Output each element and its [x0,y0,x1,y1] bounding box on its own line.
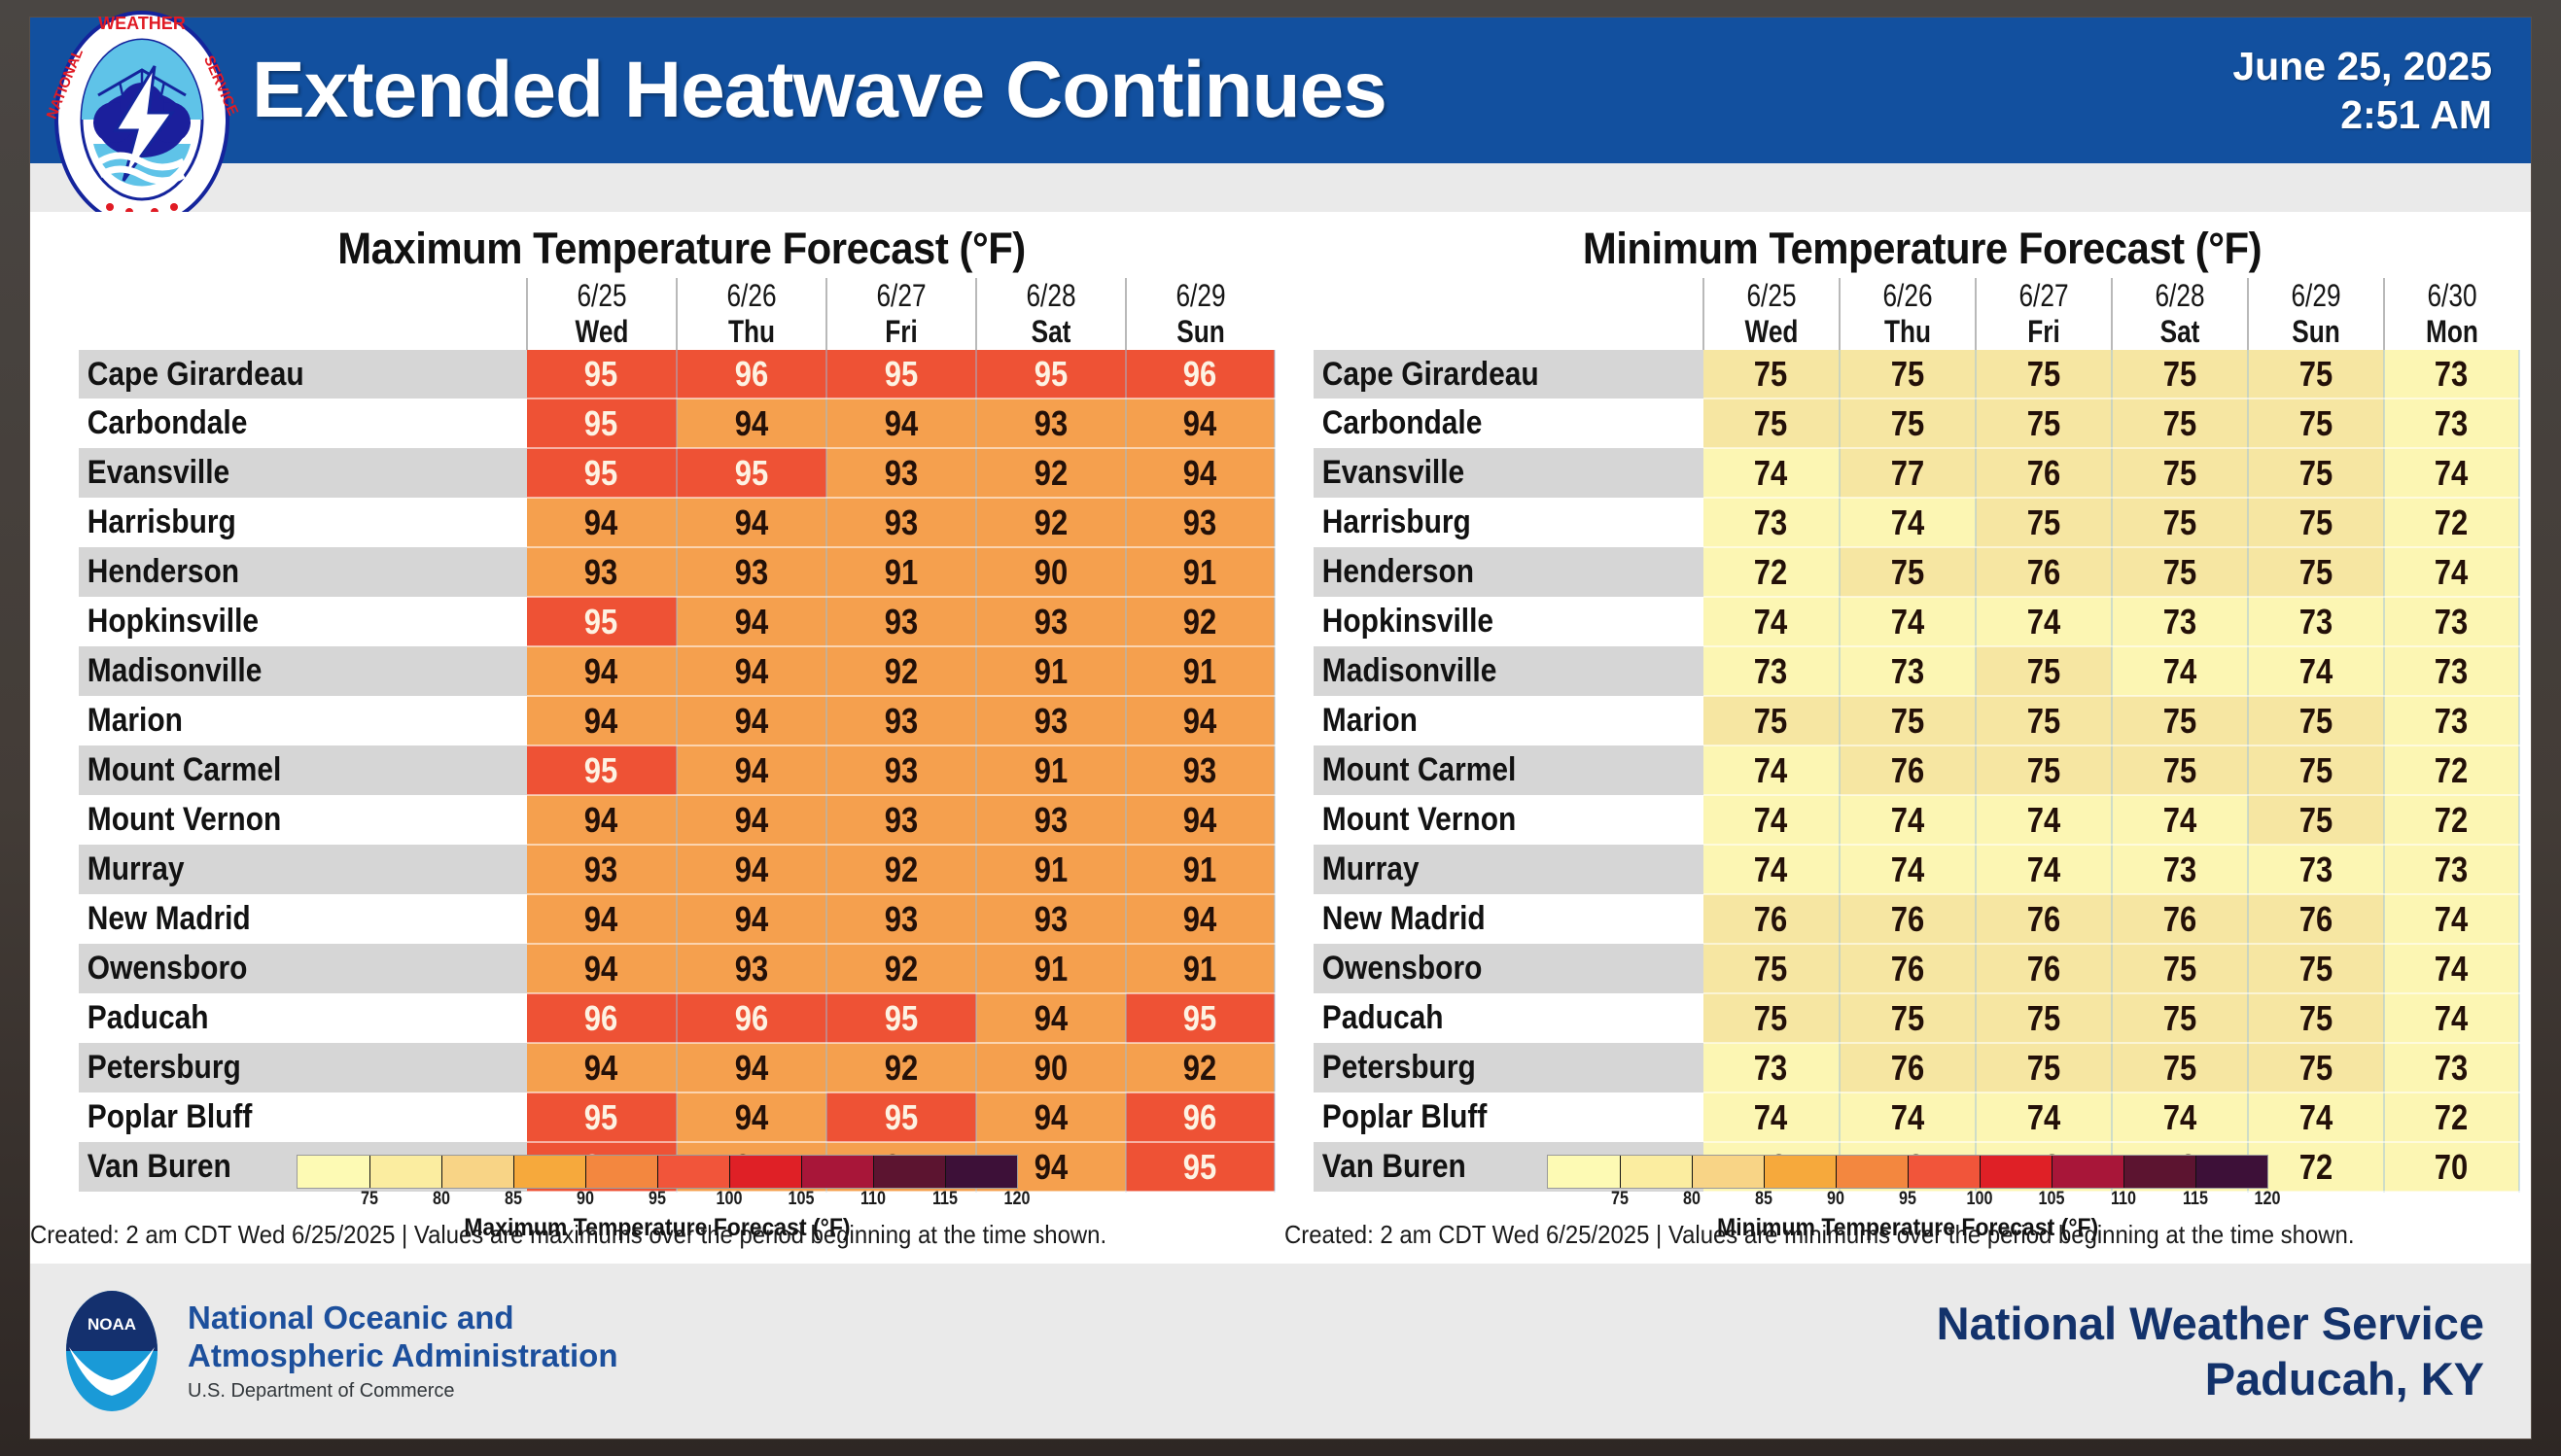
city-label: Carbondale [79,404,474,442]
city-label: Hopkinsville [1314,603,1657,641]
table-row: Evansville9595939294 [79,448,1275,498]
legend-tick-label: 110 [860,1189,886,1210]
temperature-cell: 72 [1703,547,1840,597]
table-row: Petersburg9494929092 [79,1043,1275,1092]
legend-tick [2195,1156,2196,1188]
temperature-cell: 72 [2384,498,2519,547]
temperature-cell: 74 [2112,646,2248,696]
temperature-cell: 72 [2384,1092,2519,1142]
legend-tick-label: 120 [2255,1189,2281,1210]
legend-tick [585,1156,586,1188]
svg-text:NOAA: NOAA [88,1315,136,1334]
temperature-cell: 77 [1840,448,1976,498]
temperature-cell: 75 [1976,399,2112,448]
temperature-cell: 75 [1840,399,1976,448]
temperature-cell: 93 [826,795,976,845]
temperature-cell: 75 [1703,993,1840,1043]
legend-tick-label: 100 [717,1189,743,1210]
temperature-cell: 94 [527,894,677,944]
column-header-day: Fri [1976,314,2112,350]
city-label: Poplar Bluff [1314,1098,1657,1136]
temperature-cell: 74 [2384,894,2519,944]
column-header-date: 6/29 [2248,278,2384,314]
svg-text:WEATHER: WEATHER [98,14,186,33]
header-bar: WEATHER NATIONAL SERVICE Extended Heatwa… [30,17,2531,163]
footer-bar: NOAA National Oceanic and Atmospheric Ad… [30,1264,2531,1439]
temperature-cell: 74 [1840,498,1976,547]
legend-tick-label: 90 [1827,1189,1844,1210]
temperature-cell: 93 [976,795,1126,845]
column-header-date: 6/26 [677,278,826,314]
table-row: Poplar Bluff9594959496 [79,1092,1275,1142]
table-row: Madisonville9494929191 [79,646,1275,696]
temperature-cell: 76 [1976,894,2112,944]
temperature-cell: 91 [1126,646,1275,696]
table-row: Petersburg737675757573 [1314,1043,2519,1092]
temperature-cell: 75 [2248,448,2384,498]
row-city-cell: Cape Girardeau [1314,350,1703,399]
table-row: Cape Girardeau757575757573 [1314,350,2519,399]
legend-tick [945,1156,946,1188]
temperature-cell: 75 [1703,696,1840,745]
city-label: Madisonville [79,652,474,690]
legend-tick-label: 75 [361,1189,378,1210]
temperature-cell: 93 [976,894,1126,944]
city-label: Petersburg [1314,1049,1657,1087]
legend-colorbar-min [1547,1155,2268,1189]
city-label: Madisonville [1314,652,1657,690]
temperature-cell: 74 [1976,795,2112,845]
graphic-frame: WEATHER NATIONAL SERVICE Extended Heatwa… [30,17,2531,1439]
temperature-cell: 96 [677,350,826,399]
row-city-cell: Madisonville [1314,646,1703,696]
noaa-name-line1: National Oceanic and [188,1300,618,1337]
city-label: Henderson [1314,553,1657,591]
header-spacer-cell [79,314,527,350]
table-header-days: WedThuFriSatSunMon [1314,314,2519,350]
legend-tick-label: 85 [505,1189,522,1210]
temperature-cell: 76 [1703,894,1840,944]
panel-minimum: Minimum Temperature Forecast (°F) 6/256/… [1284,212,2531,1264]
legend-tick [1692,1156,1693,1188]
temperature-cell: 76 [1840,1043,1976,1092]
temperature-cell: 74 [1703,745,1840,795]
temperature-cell: 91 [1126,547,1275,597]
issue-time: 2:51 AM [2232,90,2492,139]
table-row: Madisonville737375747473 [1314,646,2519,696]
temperature-cell: 96 [527,993,677,1043]
temperature-cell: 74 [1976,845,2112,894]
row-city-cell: Poplar Bluff [1314,1092,1703,1142]
temperature-cell: 92 [1126,597,1275,646]
temperature-cell: 75 [1976,350,2112,399]
row-city-cell: Mount Carmel [79,745,527,795]
column-header-day: Sat [976,314,1126,350]
temperature-cell: 94 [677,696,826,745]
column-header-date: 6/28 [976,278,1126,314]
header-spacer-cell [1314,278,1703,314]
city-label: Cape Girardeau [1314,356,1657,394]
legend-tick-label: 75 [1611,1189,1629,1210]
legend-tick [513,1156,514,1188]
header-spacer-cell [79,278,527,314]
row-city-cell: Henderson [79,547,527,597]
temperature-cell: 76 [2112,894,2248,944]
temperature-cell: 94 [1126,696,1275,745]
temperature-cell: 73 [2384,350,2519,399]
column-header-date: 6/27 [826,278,976,314]
legend-tick-label: 80 [433,1189,450,1210]
temperature-cell: 94 [1126,795,1275,845]
legend-tick-label: 120 [1004,1189,1031,1210]
row-city-cell: New Madrid [79,894,527,944]
temperature-cell: 94 [677,894,826,944]
table-row: Evansville747776757574 [1314,448,2519,498]
table-row: Marion757575757573 [1314,696,2519,745]
office-branding: National Weather Service Paducah, KY [1937,1296,2531,1407]
table-row: Owensboro757676757574 [1314,944,2519,993]
row-city-cell: Madisonville [79,646,527,696]
column-header-date: 6/25 [1703,278,1840,314]
legend-tick-label: 100 [1967,1189,1993,1210]
temperature-cell: 94 [527,795,677,845]
temperature-cell: 94 [527,944,677,993]
temperature-cell: 73 [2384,597,2519,646]
temperature-cell: 76 [1840,745,1976,795]
temperature-cell: 74 [2112,1092,2248,1142]
temperature-cell: 75 [1976,498,2112,547]
row-city-cell: Owensboro [1314,944,1703,993]
temperature-cell: 75 [2248,547,2384,597]
source-note-min: Created: 2 am CDT Wed 6/25/2025 | Values… [1284,1220,2431,1250]
temperature-cell: 73 [2248,597,2384,646]
temperature-cell: 94 [826,399,976,448]
city-label: Murray [79,850,474,888]
temperature-cell: 93 [826,498,976,547]
temperature-cell: 91 [976,944,1126,993]
legend-tick-label: 90 [577,1189,594,1210]
city-label: Marion [79,702,474,740]
legend-tick-label: 105 [789,1189,815,1210]
row-city-cell: Henderson [1314,547,1703,597]
temperature-cell: 91 [976,745,1126,795]
temperature-cell: 94 [677,597,826,646]
legend-tick [369,1156,370,1188]
temperature-cell: 75 [2112,498,2248,547]
column-header-date: 6/26 [1840,278,1976,314]
row-city-cell: Mount Vernon [1314,795,1703,845]
row-city-cell: Paducah [79,993,527,1043]
row-city-cell: Hopkinsville [1314,597,1703,646]
city-label: Paducah [79,999,474,1037]
temperature-cell: 92 [976,498,1126,547]
panel-maximum: Maximum Temperature Forecast (°F) 6/256/… [30,212,1284,1264]
row-city-cell: Carbondale [79,399,527,448]
office-name: National Weather Service [1937,1296,2484,1351]
temperature-cell: 94 [677,845,826,894]
temperature-cell: 75 [2248,399,2384,448]
temperature-cell: 75 [1840,350,1976,399]
table-row: Mount Carmel9594939193 [79,745,1275,795]
temperature-cell: 94 [1126,894,1275,944]
temperature-cell: 75 [2248,1043,2384,1092]
row-city-cell: Petersburg [1314,1043,1703,1092]
row-city-cell: Marion [1314,696,1703,745]
legend-tick [1836,1156,1837,1188]
city-label: New Madrid [79,900,474,938]
city-label: Mount Carmel [79,751,474,789]
temperature-cell: 93 [677,944,826,993]
column-header-day: Sun [2248,314,2384,350]
legend-tick-label: 80 [1683,1189,1701,1210]
temperature-cell: 73 [2384,1043,2519,1092]
row-city-cell: Carbondale [1314,399,1703,448]
temperature-cell: 93 [826,597,976,646]
column-header-date: 6/29 [1126,278,1275,314]
temperature-cell: 76 [1976,944,2112,993]
legend-tick [441,1156,442,1188]
row-city-cell: Harrisburg [79,498,527,547]
legend-tick [2123,1156,2124,1188]
table-row: Carbondale9594949394 [79,399,1275,448]
legend-tick-label: 115 [932,1189,958,1210]
temperature-cell: 94 [1126,399,1275,448]
city-label: Murray [1314,850,1657,888]
city-label: Owensboro [1314,950,1657,988]
temperature-cell: 76 [1840,894,1976,944]
header-spacer-cell [1314,314,1703,350]
temperature-cell: 74 [2248,646,2384,696]
temperature-cell: 72 [2384,795,2519,845]
temperature-cell: 75 [2248,745,2384,795]
header-spacer [30,163,2531,212]
legend-tick [729,1156,730,1188]
temperature-cell: 74 [2248,1092,2384,1142]
temperature-cell: 95 [527,1092,677,1142]
temperature-cell: 92 [1126,1043,1275,1092]
row-city-cell: Mount Vernon [79,795,527,845]
table-row: Hopkinsville747474737373 [1314,597,2519,646]
temperature-cell: 73 [1703,498,1840,547]
temperature-cell: 75 [2248,944,2384,993]
temperature-cell: 95 [527,399,677,448]
temperature-cell: 76 [2248,894,2384,944]
temperature-cell: 75 [2112,350,2248,399]
table-row: Harrisburg9494939293 [79,498,1275,547]
column-header-day: Sun [1126,314,1275,350]
temperature-cell: 92 [826,944,976,993]
temperature-cell: 75 [1976,993,2112,1043]
legend-tick [657,1156,658,1188]
row-city-cell: Poplar Bluff [79,1092,527,1142]
temperature-cell: 75 [2112,993,2248,1043]
min-temperature-table: 6/256/266/276/286/296/30WedThuFriSatSunM… [1314,278,2520,1193]
temperature-cell: 93 [976,597,1126,646]
legend-tick [801,1156,802,1188]
temperature-cell: 74 [1840,597,1976,646]
temperature-cell: 92 [826,845,976,894]
temperature-cell: 94 [976,1092,1126,1142]
noaa-logo-icon: NOAA [57,1283,166,1419]
temperature-cell: 74 [1840,795,1976,845]
column-header-day: Mon [2384,314,2519,350]
temperature-cell: 75 [1840,547,1976,597]
legend-tick-label: 85 [1755,1189,1772,1210]
temperature-cell: 95 [826,1092,976,1142]
source-note-max: Created: 2 am CDT Wed 6/25/2025 | Values… [30,1220,1184,1250]
temperature-cell: 96 [677,993,826,1043]
temperature-cell: 91 [976,845,1126,894]
office-location: Paducah, KY [1937,1351,2484,1406]
row-city-cell: Murray [1314,845,1703,894]
noaa-name-line2: Atmospheric Administration [188,1337,618,1375]
temperature-cell: 95 [527,448,677,498]
temperature-cell: 94 [677,795,826,845]
legend-tick [873,1156,874,1188]
temperature-cell: 92 [826,646,976,696]
temperature-cell: 94 [527,498,677,547]
row-city-cell: Petersburg [79,1043,527,1092]
temperature-cell: 75 [1703,399,1840,448]
table-row: Harrisburg737475757572 [1314,498,2519,547]
temperature-cell: 75 [1703,944,1840,993]
temperature-cell: 75 [1840,993,1976,1043]
legend-minimum: 7580859095100105110115120 Minimum Temper… [1284,1155,2531,1242]
temperature-cell: 76 [1840,944,1976,993]
table-row: Murray9394929191 [79,845,1275,894]
temperature-cell: 93 [527,547,677,597]
temperature-cell: 75 [2112,547,2248,597]
temperature-cell: 94 [527,696,677,745]
temperature-cell: 75 [2248,350,2384,399]
temperature-cell: 75 [2112,696,2248,745]
city-label: Carbondale [1314,404,1657,442]
temperature-cell: 74 [1976,1092,2112,1142]
temperature-cell: 74 [2112,795,2248,845]
temperature-cell: 94 [1126,448,1275,498]
temperature-cell: 75 [2248,795,2384,845]
temperature-cell: 75 [2112,944,2248,993]
temperature-cell: 90 [976,547,1126,597]
table-row: Poplar Bluff747474747472 [1314,1092,2519,1142]
temperature-cell: 95 [527,597,677,646]
legend-colorbar-max [297,1155,1018,1189]
temperature-cell: 74 [2384,944,2519,993]
panel-title-maximum: Maximum Temperature Forecast (°F) [121,224,1242,274]
legend-tick [1980,1156,1981,1188]
temperature-cell: 95 [826,350,976,399]
temperature-cell: 75 [1976,646,2112,696]
temperature-cell: 94 [976,993,1126,1043]
table-row: New Madrid9494939394 [79,894,1275,944]
temperature-cell: 74 [1703,448,1840,498]
max-temperature-table: 6/256/266/276/286/29WedThuFriSatSunCape … [79,278,1276,1193]
temperature-cell: 91 [976,646,1126,696]
city-label: Petersburg [79,1049,474,1087]
temperature-cell: 94 [677,1092,826,1142]
temperature-cell: 95 [527,745,677,795]
legend-maximum: 7580859095100105110115120 Maximum Temper… [30,1155,1284,1242]
row-city-cell: Murray [79,845,527,894]
column-header-day: Sat [2112,314,2248,350]
table-row: Henderson9393919091 [79,547,1275,597]
row-city-cell: Paducah [1314,993,1703,1043]
legend-tick-label: 110 [2111,1189,2136,1210]
temperature-cell: 75 [2112,1043,2248,1092]
table-row: Marion9494939394 [79,696,1275,745]
temperature-cell: 93 [826,448,976,498]
temperature-cell: 93 [1126,745,1275,795]
temperature-cell: 96 [1126,350,1275,399]
temperature-cell: 94 [677,498,826,547]
temperature-cell: 95 [1126,993,1275,1043]
table-row: Mount Vernon9494939394 [79,795,1275,845]
temperature-cell: 93 [1126,498,1275,547]
temperature-cell: 74 [1840,845,1976,894]
temperature-cell: 74 [1703,795,1840,845]
row-city-cell: Evansville [79,448,527,498]
temperature-cell: 76 [1976,547,2112,597]
table-row: Carbondale757575757573 [1314,399,2519,448]
page-title: Extended Heatwave Continues [252,51,2232,130]
temperature-cell: 93 [826,745,976,795]
noaa-branding: NOAA National Oceanic and Atmospheric Ad… [30,1283,618,1419]
temperature-cell: 93 [976,696,1126,745]
issue-date: June 25, 2025 [2232,42,2492,90]
row-city-cell: Evansville [1314,448,1703,498]
nws-seal-slot: WEATHER NATIONAL SERVICE [30,17,252,163]
table-row: Hopkinsville9594939392 [79,597,1275,646]
temperature-cell: 75 [1840,696,1976,745]
legend-tick [1908,1156,1909,1188]
temperature-cell: 93 [527,845,677,894]
nws-seal-icon: WEATHER NATIONAL SERVICE [40,8,244,231]
panel-title-minimum: Minimum Temperature Forecast (°F) [1356,224,2488,274]
temperature-cell: 73 [2384,399,2519,448]
row-city-cell: Mount Carmel [1314,745,1703,795]
city-label: Poplar Bluff [79,1098,474,1136]
city-label: Mount Carmel [1314,751,1657,789]
temperature-cell: 74 [1976,597,2112,646]
city-label: Owensboro [79,950,474,988]
table-row: Cape Girardeau9596959596 [79,350,1275,399]
temperature-cell: 93 [976,399,1126,448]
temperature-cell: 95 [527,350,677,399]
city-label: Evansville [1314,454,1657,492]
city-label: Mount Vernon [79,801,474,839]
legend-tick-label: 105 [2039,1189,2065,1210]
table-row: Paducah9696959495 [79,993,1275,1043]
temperature-cell: 90 [976,1043,1126,1092]
temperature-cell: 92 [826,1043,976,1092]
row-city-cell: Marion [79,696,527,745]
column-header-date: 6/30 [2384,278,2519,314]
row-city-cell: Harrisburg [1314,498,1703,547]
temperature-cell: 75 [2248,696,2384,745]
city-label: Henderson [79,553,474,591]
temperature-cell: 94 [527,1043,677,1092]
temperature-cell: 91 [1126,845,1275,894]
table-row: Paducah757575757574 [1314,993,2519,1043]
column-header-day: Thu [1840,314,1976,350]
row-city-cell: Cape Girardeau [79,350,527,399]
temperature-cell: 72 [2384,745,2519,795]
legend-tick-label: 115 [2183,1189,2208,1210]
legend-tick [1620,1156,1621,1188]
temperature-cell: 74 [2384,993,2519,1043]
temperature-cell: 75 [1976,745,2112,795]
forecast-panels: Maximum Temperature Forecast (°F) 6/256/… [30,212,2531,1264]
